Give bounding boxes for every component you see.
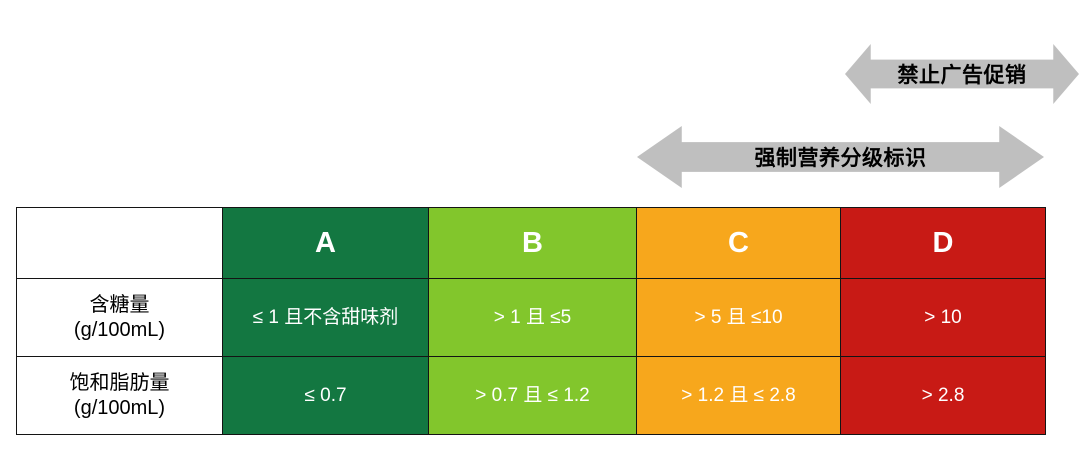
table-header-row: A B C D [17, 208, 1046, 279]
grade-header-a: A [223, 208, 429, 279]
table-row-saturated-fat: 饱和脂肪量 (g/100mL) ≤ 0.7 > 0.7 且 ≤ 1.2 > 1.… [17, 357, 1046, 435]
cell-fat-d: > 2.8 [841, 357, 1046, 435]
table-row-sugar: 含糖量 (g/100mL) ≤ 1 且不含甜味剂 > 1 且 ≤5 > 5 且 … [17, 279, 1046, 357]
arrow-banner-mandatory-labeling-label: 强制营养分级标识 [755, 142, 927, 172]
cell-fat-b: > 0.7 且 ≤ 1.2 [429, 357, 637, 435]
arrow-banner-promotion-ban: 禁止广告促销 [845, 44, 1079, 104]
row-label-sugar-line2: (g/100mL) [17, 318, 222, 343]
row-label-saturated-fat-line2: (g/100mL) [17, 396, 222, 421]
nutrition-grading-table: A B C D 含糖量 (g/100mL) ≤ 1 且不含甜味剂 > 1 且 ≤… [16, 207, 1046, 435]
cell-sugar-b: > 1 且 ≤5 [429, 279, 637, 357]
row-label-sugar-line1: 含糖量 [17, 293, 222, 318]
table-corner-cell [17, 208, 223, 279]
cell-sugar-c: > 5 且 ≤10 [637, 279, 841, 357]
row-label-saturated-fat: 饱和脂肪量 (g/100mL) [17, 357, 223, 435]
row-label-sugar: 含糖量 (g/100mL) [17, 279, 223, 357]
arrow-banner-mandatory-labeling: 强制营养分级标识 [637, 126, 1044, 188]
grade-header-d: D [841, 208, 1046, 279]
grade-header-c: C [637, 208, 841, 279]
cell-sugar-d: > 10 [841, 279, 1046, 357]
cell-fat-c: > 1.2 且 ≤ 2.8 [637, 357, 841, 435]
row-label-saturated-fat-line1: 饱和脂肪量 [17, 371, 222, 396]
grade-header-b: B [429, 208, 637, 279]
cell-fat-a: ≤ 0.7 [223, 357, 429, 435]
arrow-banner-promotion-ban-label: 禁止广告促销 [898, 59, 1027, 89]
cell-sugar-a: ≤ 1 且不含甜味剂 [223, 279, 429, 357]
